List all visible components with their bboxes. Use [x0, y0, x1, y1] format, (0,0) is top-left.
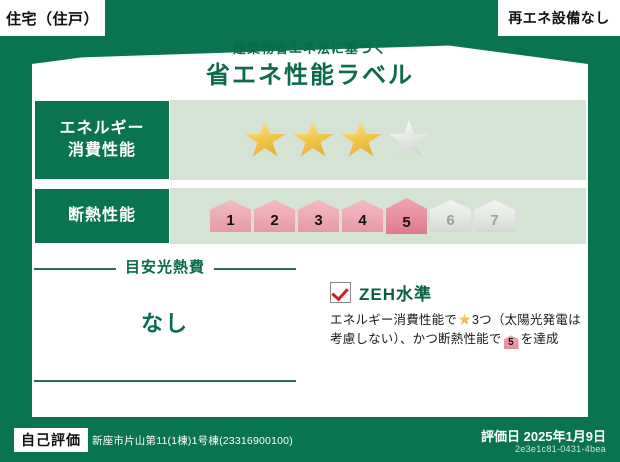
- star-icon-3: [340, 120, 382, 160]
- insulation-badge-icon: 5: [504, 335, 519, 349]
- insulation-level-1: 1: [210, 200, 251, 232]
- label-footer: 自己評価 新座市片山第11(1棟)1号棟(23316900100) 評価日 20…: [0, 416, 620, 462]
- page-title: 省エネ性能ラベル: [0, 55, 620, 90]
- cost-heading: 目安光熱費: [116, 256, 214, 277]
- star-icon: [458, 313, 471, 326]
- insulation-level-3: 3: [298, 200, 339, 232]
- energy-performance-row: エネルギー 消費性能: [34, 100, 586, 180]
- zeh-header: ZEH水準: [330, 280, 586, 305]
- insulation-performance-label: 断熱性能: [34, 188, 170, 244]
- check-icon: [330, 282, 351, 303]
- estimated-utility-cost-panel: 目安光熱費 なし: [34, 252, 296, 384]
- energy-label-line2: 消費性能: [68, 140, 136, 162]
- energy-performance-label: 住宅（住戸） 再エネ設備なし 建築物省エネ法に基づく 省エネ性能ラベル エネルギ…: [0, 0, 620, 462]
- renewable-equipment-tag: 再エネ設備なし: [498, 0, 620, 36]
- insulation-level-5: 5: [386, 198, 427, 234]
- energy-performance-label: エネルギー 消費性能: [34, 100, 170, 180]
- zeh-description: エネルギー消費性能で3つ（太陽光発電は考慮しない）、かつ断熱性能で5を達成: [330, 311, 586, 350]
- insulation-label-text: 断熱性能: [68, 205, 136, 227]
- cost-value: なし: [34, 306, 296, 338]
- insulation-level-scale: 1234567: [170, 188, 586, 244]
- evaluation-id: 2e3e1c81-0431-4bea: [515, 444, 606, 454]
- energy-label-line1: エネルギー: [59, 118, 144, 140]
- cost-divider-bottom: [34, 380, 296, 382]
- star-icon-1: [244, 120, 286, 160]
- insulation-level-2: 2: [254, 200, 295, 232]
- insulation-level-6: 6: [430, 200, 471, 232]
- star-rating: [170, 100, 586, 180]
- self-evaluation-badge: 自己評価: [14, 428, 88, 452]
- zeh-panel: ZEH水準 エネルギー消費性能で3つ（太陽光発電は考慮しない）、かつ断熱性能で5…: [330, 280, 586, 350]
- star-icon-2: [292, 120, 334, 160]
- zeh-desc-part3: を達成: [521, 332, 559, 346]
- zeh-desc-part1: エネルギー消費性能で: [330, 313, 457, 327]
- zeh-title: ZEH水準: [359, 280, 432, 305]
- zeh-desc-star-count: 3つ（太陽光発電: [472, 313, 568, 327]
- insulation-performance-row: 断熱性能 1234567: [34, 188, 586, 244]
- evaluation-date: 評価日 2025年1月9日: [481, 426, 606, 445]
- dwelling-type-tag: 住宅（住戸）: [0, 0, 105, 36]
- insulation-level-7: 7: [474, 200, 515, 232]
- insulation-level-4: 4: [342, 200, 383, 232]
- property-address: 新座市片山第11(1棟)1号棟(23316900100): [92, 433, 293, 448]
- star-icon-4: [388, 120, 430, 160]
